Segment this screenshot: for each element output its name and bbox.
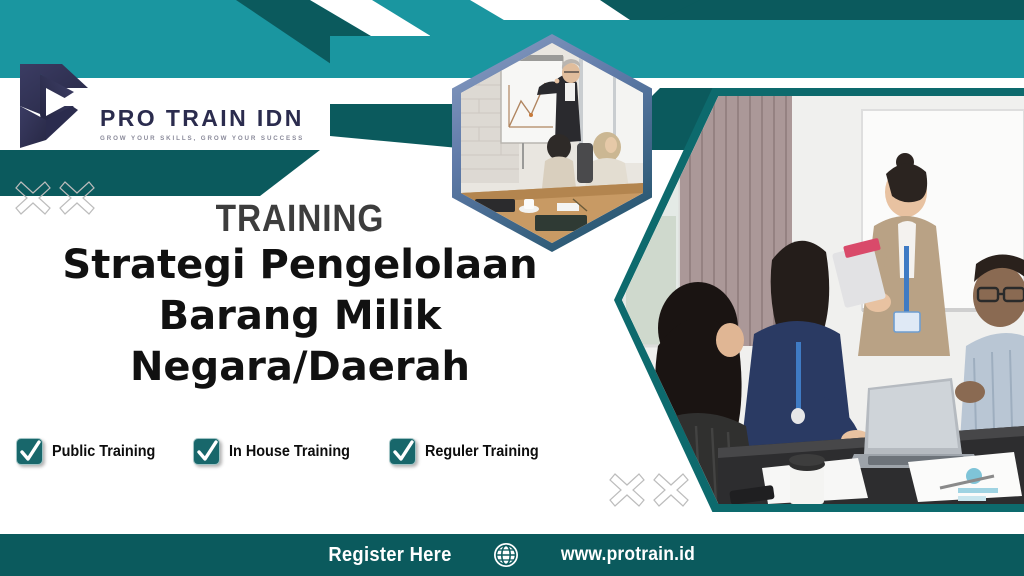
footer-bar: Register Here www.protrain.id	[0, 534, 1024, 576]
option-label: In House Training	[229, 443, 350, 461]
option-public-training[interactable]: Public Training	[16, 438, 163, 465]
headline-line-3: Negara/Daerah	[0, 342, 600, 393]
headline-line-1: Strategi Pengelolaan	[0, 240, 600, 291]
checkbox-checked-icon[interactable]	[16, 438, 43, 465]
option-reguler-training[interactable]: Reguler Training	[389, 438, 547, 465]
option-label: Reguler Training	[425, 443, 539, 461]
pro-train-chevron-logo-icon	[16, 62, 94, 150]
x-cross-outline-icon	[608, 472, 646, 508]
brand-tagline: GROW YOUR SKILLS, GROW YOUR SUCCESS	[100, 135, 304, 142]
checkbox-checked-icon[interactable]	[389, 438, 416, 465]
x-decoration-group-lower	[608, 472, 690, 508]
brand-logo: PRO TRAIN IDN GROW YOUR SKILLS, GROW YOU…	[16, 62, 304, 150]
website-url[interactable]: www.protrain.id	[561, 544, 695, 566]
arrow-photo-image	[622, 96, 1024, 504]
x-cross-outline-icon	[652, 472, 690, 508]
hexagon-photo-image	[461, 43, 643, 243]
register-here-label: Register Here	[328, 544, 451, 567]
option-label: Public Training	[52, 443, 155, 461]
globe-icon	[493, 542, 519, 568]
brand-name: PRO TRAIN IDN	[100, 107, 304, 130]
arrow-photo-frame	[614, 88, 1024, 512]
checkbox-checked-icon[interactable]	[193, 438, 220, 465]
option-in-house-training[interactable]: In House Training	[193, 438, 359, 465]
training-promo-banner: PRO TRAIN IDN GROW YOUR SKILLS, GROW YOU…	[0, 0, 1024, 576]
training-type-options: Public Training In House Training Regule…	[16, 438, 547, 465]
headline-line-2: Barang Milik	[0, 291, 600, 342]
